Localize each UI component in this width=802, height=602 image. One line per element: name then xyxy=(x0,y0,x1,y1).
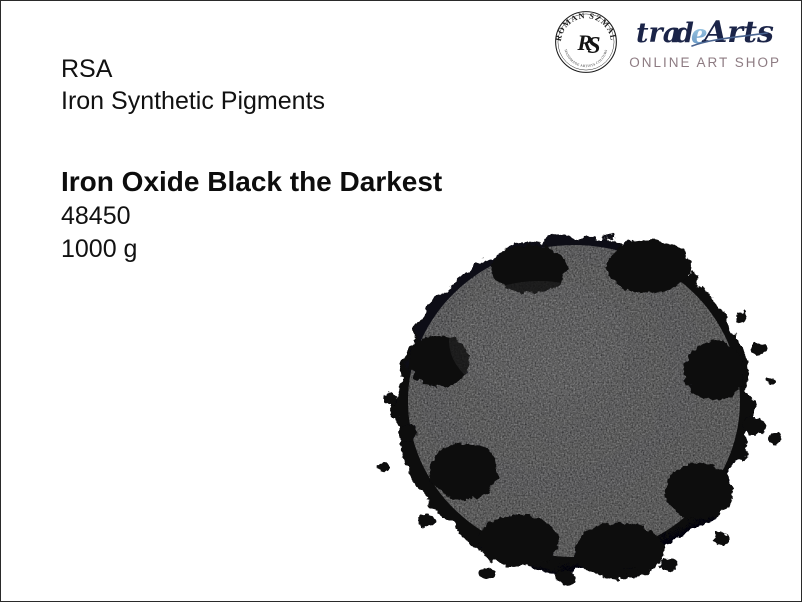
svg-text:tra: tra xyxy=(636,18,680,49)
svg-text:S: S xyxy=(588,33,601,59)
pigment-pile-graphic xyxy=(369,221,789,589)
product-title: Iron Oxide Black the Darkest xyxy=(61,164,581,200)
brand-lockup: ROMAN SZMAL HANDMADE ARTISTS COLOURS R S xyxy=(553,9,781,75)
pigment-powder-pile xyxy=(369,221,789,589)
brand-tagline: ONLINE ART SHOP xyxy=(629,55,781,70)
product-category-line: Iron Synthetic Pigments xyxy=(61,85,581,117)
product-brand-line: RSA xyxy=(61,53,581,85)
product-image-card: ROMAN SZMAL HANDMADE ARTISTS COLOURS R S xyxy=(0,0,802,602)
tradearts-wordmark: tra d e Arts ONLINE ART SHOP xyxy=(629,12,781,72)
svg-text:Arts: Arts xyxy=(701,15,774,50)
tradearts-script-text: tra d e Arts xyxy=(634,12,776,54)
